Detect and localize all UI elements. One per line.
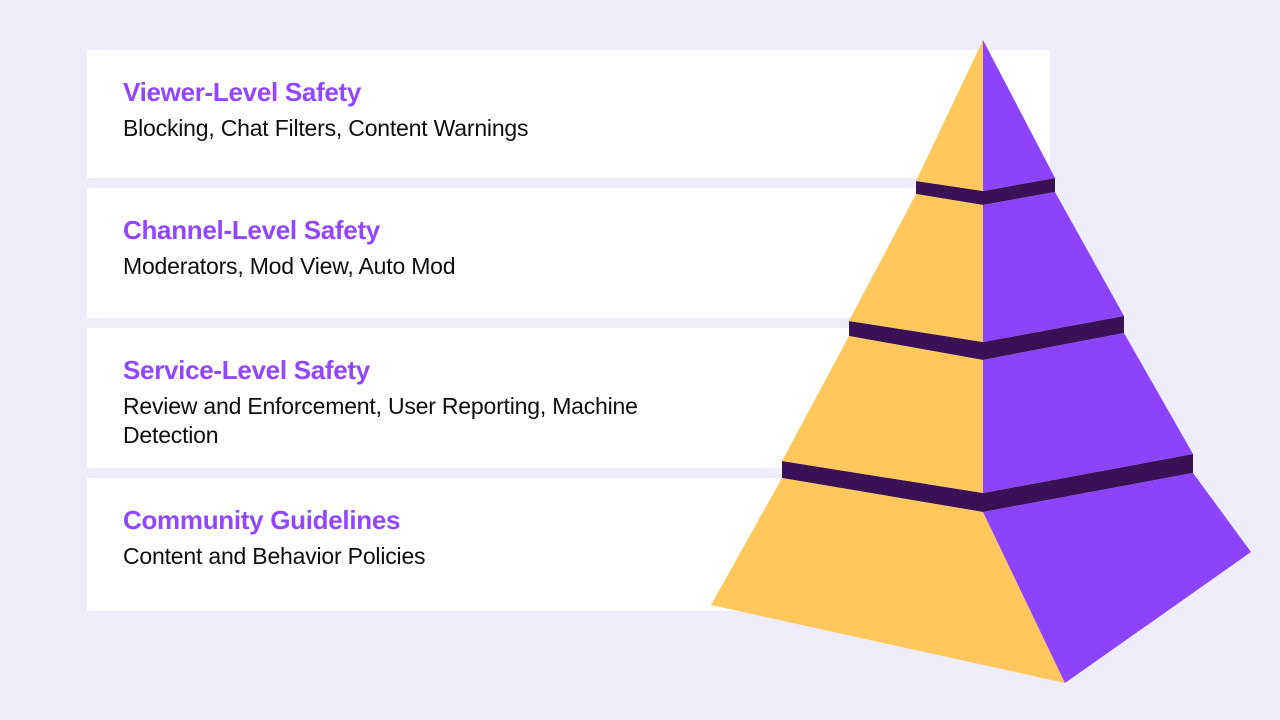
level-subtitle: Blocking, Chat Filters, Content Warnings [123, 114, 683, 143]
level-subtitle: Content and Behavior Policies [123, 542, 683, 571]
level-subtitle: Moderators, Mod View, Auto Mod [123, 252, 683, 281]
list-item-viewer-level-safety[interactable]: Viewer-Level Safety Blocking, Chat Filte… [87, 50, 1050, 178]
level-title: Service-Level Safety [123, 356, 1050, 386]
slide-canvas: Viewer-Level Safety Blocking, Chat Filte… [0, 0, 1280, 720]
level-title: Community Guidelines [123, 506, 1050, 536]
level-title: Channel-Level Safety [123, 216, 1050, 246]
list-item-channel-level-safety[interactable]: Channel-Level Safety Moderators, Mod Vie… [87, 188, 1050, 318]
level-title: Viewer-Level Safety [123, 78, 1050, 108]
safety-levels-list: Viewer-Level Safety Blocking, Chat Filte… [87, 50, 1050, 611]
list-item-community-guidelines[interactable]: Community Guidelines Content and Behavio… [87, 478, 1050, 611]
level-subtitle: Review and Enforcement, User Reporting, … [123, 392, 683, 451]
list-item-service-level-safety[interactable]: Service-Level Safety Review and Enforcem… [87, 328, 1050, 468]
